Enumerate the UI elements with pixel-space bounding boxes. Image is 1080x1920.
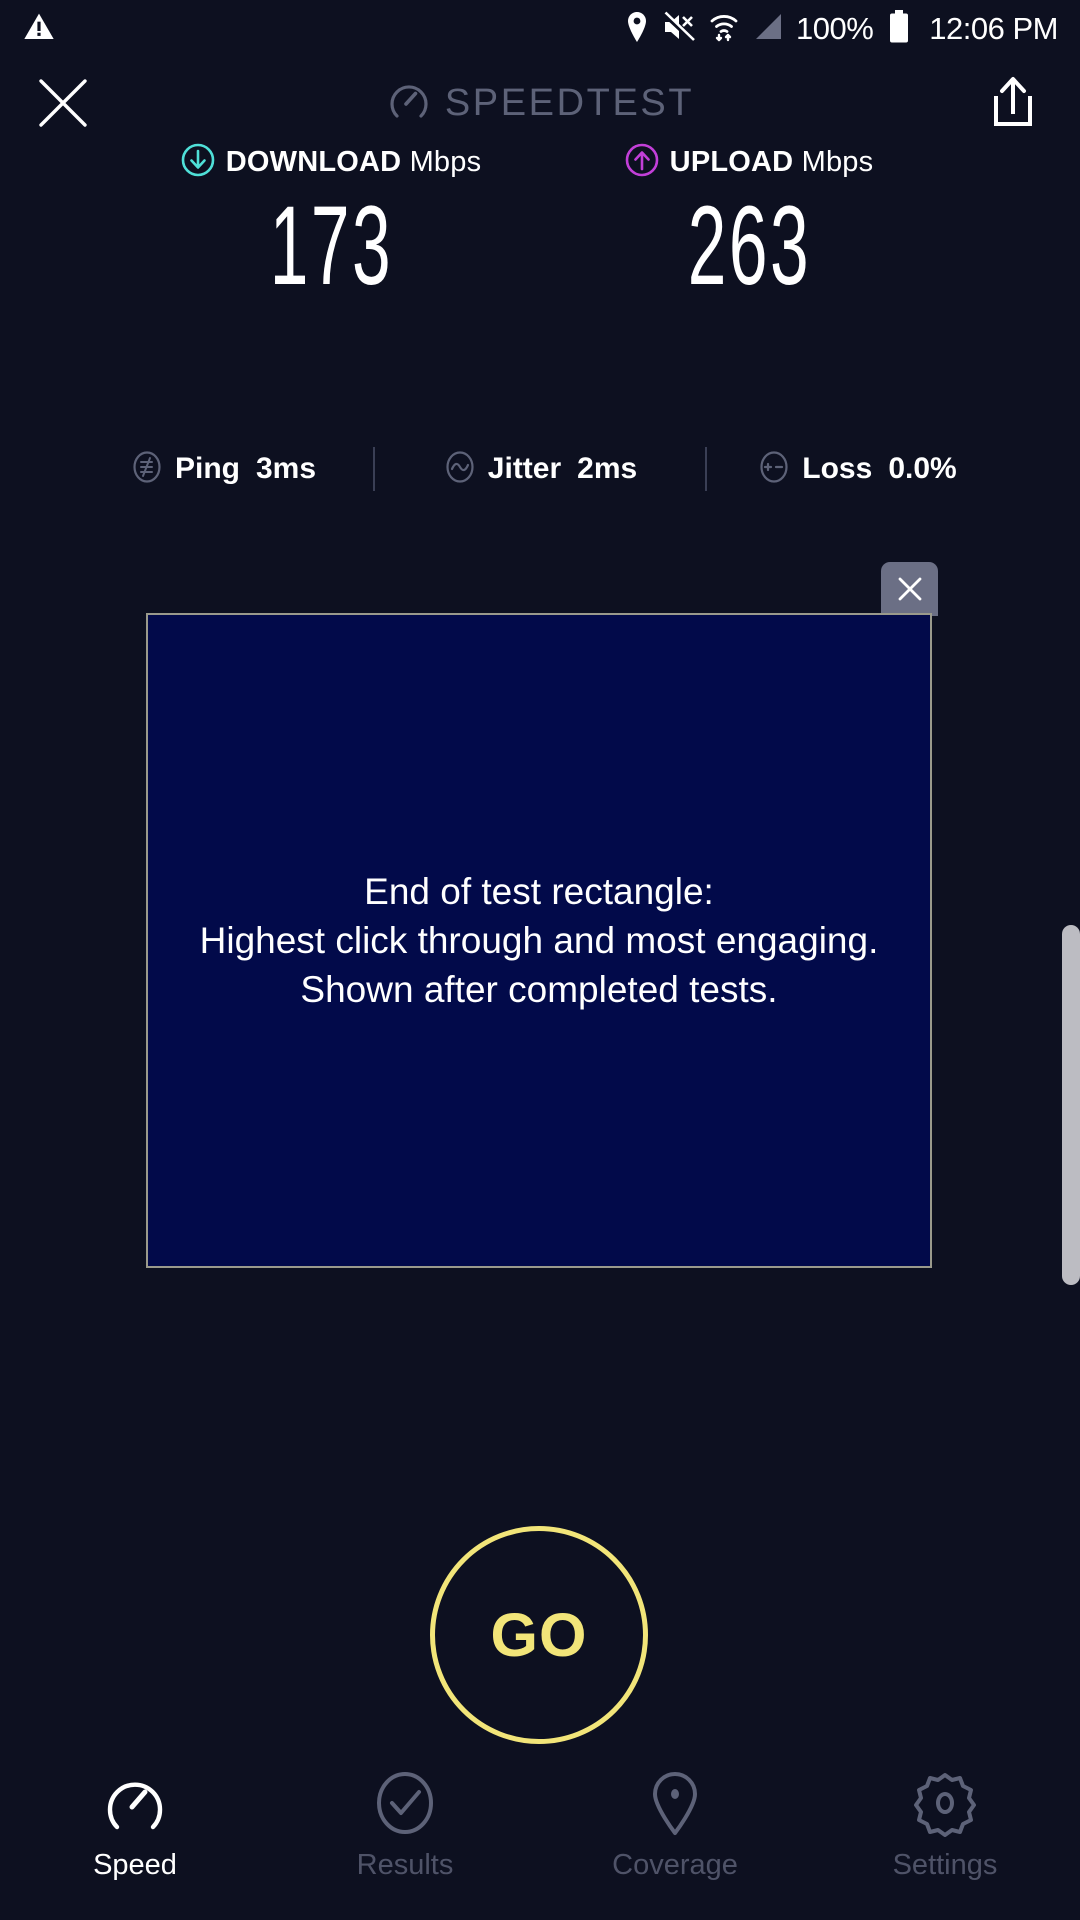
download-label: DOWNLOAD Mbps: [226, 146, 482, 179]
scrollbar[interactable]: [1062, 925, 1080, 1285]
loss-icon: [757, 450, 791, 489]
ad-text: End of test rectangle: Highest click thr…: [200, 867, 879, 1014]
speedometer-logo-icon: [386, 78, 432, 129]
nav-label-coverage: Coverage: [612, 1849, 738, 1882]
network-stats-row: Ping 3ms Jitter 2ms Loss 0.0: [0, 447, 1080, 491]
mute-icon: [662, 11, 695, 48]
go-button-label: GO: [491, 1600, 588, 1670]
speedometer-icon: [101, 1767, 169, 1839]
advertisement-banner[interactable]: End of test rectangle: Highest click thr…: [146, 613, 932, 1268]
ping-label: Ping: [175, 452, 240, 486]
cellular-signal-icon: [753, 12, 783, 47]
upload-label: UPLOAD Mbps: [670, 146, 874, 179]
app-header: SPEEDTEST: [0, 58, 1080, 148]
jitter-icon: [443, 450, 477, 489]
bottom-navigation: Speed Results Coverage Settings: [0, 1755, 1080, 1920]
upload-label-row: UPLOAD Mbps: [625, 142, 874, 182]
ad-close-button[interactable]: [881, 562, 938, 616]
battery-full-icon: [888, 10, 910, 49]
nav-item-settings[interactable]: Settings: [810, 1755, 1080, 1920]
location-pin-icon: [641, 1767, 709, 1839]
download-result: DOWNLOAD Mbps 173: [176, 142, 486, 302]
jitter-stat: Jitter 2ms: [375, 450, 705, 489]
location-pin-icon: [625, 11, 649, 48]
download-label-row: DOWNLOAD Mbps: [181, 142, 482, 182]
loss-label: Loss: [802, 452, 872, 486]
ping-stat: Ping 3ms: [73, 450, 373, 489]
page-title: SPEEDTEST: [445, 82, 694, 125]
nav-label-settings: Settings: [893, 1849, 998, 1882]
ping-icon: [130, 450, 164, 489]
status-bar-left: [22, 11, 56, 48]
speed-results-row: DOWNLOAD Mbps 173 UPLOAD Mbps 263: [0, 142, 1080, 302]
wifi-icon: [708, 11, 740, 48]
jitter-label: Jitter: [488, 452, 561, 486]
status-bar: 100% 12:06 PM: [0, 0, 1080, 58]
share-button[interactable]: [984, 72, 1042, 132]
results-panel: DOWNLOAD Mbps 173 UPLOAD Mbps 263: [0, 142, 1080, 302]
status-bar-clock: 12:06 PM: [929, 11, 1058, 47]
upload-value: 263: [687, 190, 810, 302]
gear-icon: [911, 1767, 979, 1839]
download-arrow-icon: [181, 143, 215, 182]
nav-label-results: Results: [357, 1849, 454, 1882]
loss-stat: Loss 0.0%: [707, 450, 1007, 489]
warning-triangle-icon: [22, 11, 56, 48]
nav-item-speed[interactable]: Speed: [0, 1755, 270, 1920]
loss-value: 0.0%: [888, 452, 956, 486]
ad-line-2: Highest click through and most engaging.: [200, 916, 879, 965]
nav-item-results[interactable]: Results: [270, 1755, 540, 1920]
jitter-value: 2ms: [577, 452, 637, 486]
go-button[interactable]: GO: [430, 1526, 648, 1744]
ad-line-1: End of test rectangle:: [200, 867, 879, 916]
upload-result: UPLOAD Mbps 263: [594, 142, 904, 302]
ping-value: 3ms: [256, 452, 316, 486]
upload-arrow-icon: [625, 143, 659, 182]
nav-item-coverage[interactable]: Coverage: [540, 1755, 810, 1920]
download-value: 173: [269, 190, 392, 302]
battery-percent: 100%: [796, 11, 873, 47]
status-bar-right: 100% 12:06 PM: [625, 10, 1058, 49]
brand: SPEEDTEST: [0, 58, 1080, 148]
nav-label-speed: Speed: [93, 1849, 177, 1882]
check-circle-icon: [371, 1767, 439, 1839]
ad-line-3: Shown after completed tests.: [200, 965, 879, 1014]
